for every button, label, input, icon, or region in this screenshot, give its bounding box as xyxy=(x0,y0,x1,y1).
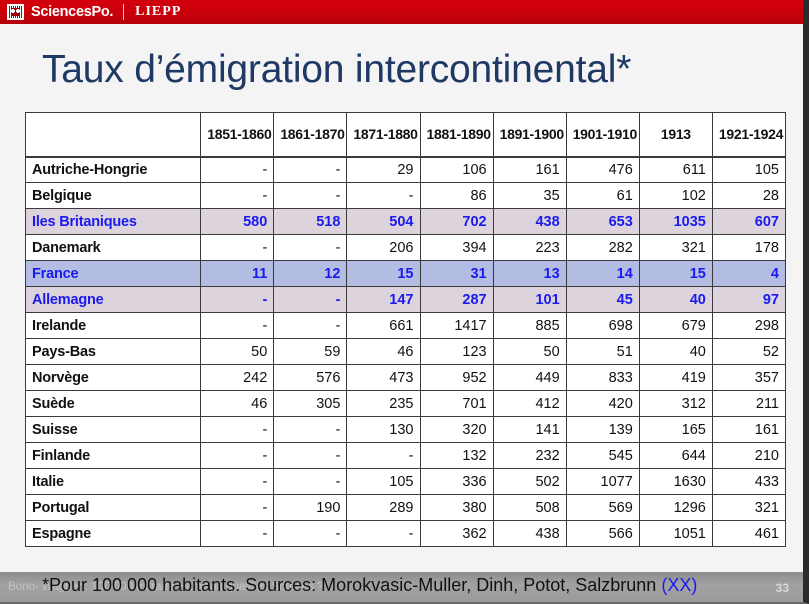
table-cell-value: 101 xyxy=(493,287,566,313)
table-row: Norvège242576473952449833419357 xyxy=(26,365,786,391)
banner-divider xyxy=(123,4,124,20)
table-cell-value: 885 xyxy=(493,313,566,339)
table-corner-cell xyxy=(26,113,201,157)
table-cell-value: 508 xyxy=(493,495,566,521)
table-cell-value: - xyxy=(201,417,274,443)
table-cell-value: 433 xyxy=(712,469,785,495)
table-cell-value: 40 xyxy=(639,287,712,313)
table-cell-value: 576 xyxy=(274,365,347,391)
table-column-header: 1891-1900 xyxy=(493,113,566,157)
table-cell-value: 394 xyxy=(420,235,493,261)
table-cell-value: 147 xyxy=(347,287,420,313)
table-cell-value: 86 xyxy=(420,183,493,209)
brand-label: SciencesPo. xyxy=(31,4,113,20)
table-cell-value: 235 xyxy=(347,391,420,417)
table-cell-value: 545 xyxy=(566,443,639,469)
table-cell-value: 357 xyxy=(712,365,785,391)
table-cell-value: 607 xyxy=(712,209,785,235)
table-cell-value: - xyxy=(274,287,347,313)
table-cell-value: 702 xyxy=(420,209,493,235)
table-cell-value: 518 xyxy=(274,209,347,235)
table-cell-country: Espagne xyxy=(26,521,201,547)
table-cell-value: - xyxy=(201,183,274,209)
table-cell-value: - xyxy=(201,313,274,339)
table-cell-value: 289 xyxy=(347,495,420,521)
table-cell-value: 320 xyxy=(420,417,493,443)
table-cell-value: - xyxy=(201,235,274,261)
table-cell-value: 29 xyxy=(347,157,420,183)
table-cell-value: - xyxy=(201,469,274,495)
table-cell-value: - xyxy=(274,521,347,547)
table-cell-value: 952 xyxy=(420,365,493,391)
table-cell-value: 206 xyxy=(347,235,420,261)
table-cell-value: 11 xyxy=(201,261,274,287)
table-row: Irelande--6611417885698679298 xyxy=(26,313,786,339)
table-cell-value: 1296 xyxy=(639,495,712,521)
table-column-header: 1881-1890 xyxy=(420,113,493,157)
table-cell-value: 321 xyxy=(639,235,712,261)
table-cell-country: Norvège xyxy=(26,365,201,391)
table-cell-value: 161 xyxy=(712,417,785,443)
table-cell-value: 580 xyxy=(201,209,274,235)
slide-footer: Bono- Wagner : 100 000 extrade Hamilton … xyxy=(0,572,803,604)
table-row: Danemark--206394223282321178 xyxy=(26,235,786,261)
table-cell-value: 105 xyxy=(347,469,420,495)
table-header: 1851-18601861-18701871-18801881-18901891… xyxy=(26,113,786,157)
data-table: 1851-18601861-18701871-18801881-18901891… xyxy=(25,112,786,547)
table-cell-value: 97 xyxy=(712,287,785,313)
table-row: Espagne---3624385661051461 xyxy=(26,521,786,547)
table-cell-value: 141 xyxy=(493,417,566,443)
table-cell-value: 420 xyxy=(566,391,639,417)
table-cell-value: - xyxy=(274,443,347,469)
table-body: Autriche-Hongrie--29106161476611105Belgi… xyxy=(26,157,786,547)
table-cell-value: - xyxy=(347,443,420,469)
table-row: Autriche-Hongrie--29106161476611105 xyxy=(26,157,786,183)
table-cell-value: 50 xyxy=(201,339,274,365)
table-cell-value: 210 xyxy=(712,443,785,469)
table-cell-country: Belgique xyxy=(26,183,201,209)
table-cell-value: - xyxy=(201,157,274,183)
table-cell-value: 380 xyxy=(420,495,493,521)
table-cell-value: 336 xyxy=(420,469,493,495)
table-cell-value: 566 xyxy=(566,521,639,547)
table-cell-value: - xyxy=(274,313,347,339)
table-column-header: 1861-1870 xyxy=(274,113,347,157)
table-cell-value: - xyxy=(347,183,420,209)
sciencespo-crest-icon xyxy=(7,4,24,20)
table-cell-value: 1051 xyxy=(639,521,712,547)
table-cell-country: Pays-Bas xyxy=(26,339,201,365)
table-cell-value: 569 xyxy=(566,495,639,521)
table-cell-country: Irelande xyxy=(26,313,201,339)
footer-note: *Pour 100 000 habitants. Sources: Morokv… xyxy=(42,575,697,596)
table-cell-country: Iles Britaniques xyxy=(26,209,201,235)
table-cell-value: 31 xyxy=(420,261,493,287)
table-cell-value: 438 xyxy=(493,521,566,547)
table-cell-value: 59 xyxy=(274,339,347,365)
table-cell-country: Italie xyxy=(26,469,201,495)
table-cell-value: 502 xyxy=(493,469,566,495)
table-cell-value: - xyxy=(274,235,347,261)
table-cell-value: 223 xyxy=(493,235,566,261)
table-cell-country: Suède xyxy=(26,391,201,417)
table-cell-value: 321 xyxy=(712,495,785,521)
table-cell-value: 1630 xyxy=(639,469,712,495)
table-cell-value: 51 xyxy=(566,339,639,365)
table-cell-country: Finlande xyxy=(26,443,201,469)
table-cell-value: 132 xyxy=(420,443,493,469)
table-cell-value: 35 xyxy=(493,183,566,209)
table-header-row: 1851-18601861-18701871-18801881-18901891… xyxy=(26,113,786,157)
table-cell-value: - xyxy=(274,469,347,495)
slide: SciencesPo. LIEPP Taux d’émigration inte… xyxy=(0,0,809,604)
table-column-header: 1901-1910 xyxy=(566,113,639,157)
table-cell-value: 46 xyxy=(201,391,274,417)
table-cell-value: 178 xyxy=(712,235,785,261)
sub-brand-label: LIEPP xyxy=(135,4,181,20)
table-cell-value: 611 xyxy=(639,157,712,183)
table-cell-value: 46 xyxy=(347,339,420,365)
table-cell-value: - xyxy=(347,521,420,547)
table-cell-value: 13 xyxy=(493,261,566,287)
table-cell-value: 1417 xyxy=(420,313,493,339)
table-cell-value: 438 xyxy=(493,209,566,235)
table-cell-value: 106 xyxy=(420,157,493,183)
table-row: Portugal-1902893805085691296321 xyxy=(26,495,786,521)
table-cell-value: 242 xyxy=(201,365,274,391)
table-cell-country: Autriche-Hongrie xyxy=(26,157,201,183)
table-cell-value: 305 xyxy=(274,391,347,417)
table-cell-value: 40 xyxy=(639,339,712,365)
table-cell-value: 653 xyxy=(566,209,639,235)
table-cell-value: 362 xyxy=(420,521,493,547)
table-cell-value: 412 xyxy=(493,391,566,417)
table-cell-value: 161 xyxy=(493,157,566,183)
table-cell-value: 139 xyxy=(566,417,639,443)
table-cell-value: 45 xyxy=(566,287,639,313)
table-cell-value: 211 xyxy=(712,391,785,417)
table-column-header: 1851-1860 xyxy=(201,113,274,157)
table-row: France111215311314154 xyxy=(26,261,786,287)
table-cell-value: 4 xyxy=(712,261,785,287)
table-cell-value: 165 xyxy=(639,417,712,443)
table-cell-value: - xyxy=(201,521,274,547)
table-cell-value: 282 xyxy=(566,235,639,261)
table-cell-value: 473 xyxy=(347,365,420,391)
table-cell-country: France xyxy=(26,261,201,287)
table-cell-value: 15 xyxy=(639,261,712,287)
table-cell-value: 102 xyxy=(639,183,712,209)
table-column-header: 1921-1924 xyxy=(712,113,785,157)
table-cell-value: 461 xyxy=(712,521,785,547)
table-cell-value: 123 xyxy=(420,339,493,365)
table-cell-country: Danemark xyxy=(26,235,201,261)
table-cell-value: 449 xyxy=(493,365,566,391)
table-cell-value: 298 xyxy=(712,313,785,339)
table-cell-value: - xyxy=(274,183,347,209)
table-cell-value: 833 xyxy=(566,365,639,391)
page-title: Taux d’émigration intercontinental* xyxy=(42,48,631,92)
table-cell-value: 312 xyxy=(639,391,712,417)
table-cell-value: 130 xyxy=(347,417,420,443)
table-cell-value: - xyxy=(201,495,274,521)
table-cell-value: 14 xyxy=(566,261,639,287)
table-cell-value: 1077 xyxy=(566,469,639,495)
table-cell-value: 190 xyxy=(274,495,347,521)
table-cell-value: - xyxy=(201,287,274,313)
table-cell-value: 105 xyxy=(712,157,785,183)
table-cell-value: 1035 xyxy=(639,209,712,235)
table-cell-value: 679 xyxy=(639,313,712,339)
table-cell-country: Portugal xyxy=(26,495,201,521)
table-cell-value: 698 xyxy=(566,313,639,339)
table-column-header: 1913 xyxy=(639,113,712,157)
table-cell-value: 476 xyxy=(566,157,639,183)
table-cell-value: - xyxy=(201,443,274,469)
table-row: Finlande---132232545644210 xyxy=(26,443,786,469)
table-row: Italie--10533650210771630433 xyxy=(26,469,786,495)
table-cell-value: - xyxy=(274,157,347,183)
table-cell-value: 504 xyxy=(347,209,420,235)
footer-note-text: *Pour 100 000 habitants. Sources: Morokv… xyxy=(42,575,661,595)
table-row: Iles Britaniques580518504702438653103560… xyxy=(26,209,786,235)
table-row: Suisse--130320141139165161 xyxy=(26,417,786,443)
table-row: Allemagne--147287101454097 xyxy=(26,287,786,313)
table-cell-value: 232 xyxy=(493,443,566,469)
table-cell-country: Suisse xyxy=(26,417,201,443)
table-cell-value: 28 xyxy=(712,183,785,209)
table-cell-value: 52 xyxy=(712,339,785,365)
table-cell-value: 61 xyxy=(566,183,639,209)
table-row: Pays-Bas50594612350514052 xyxy=(26,339,786,365)
table-cell-value: 287 xyxy=(420,287,493,313)
table-row: Belgique---86356110228 xyxy=(26,183,786,209)
table-cell-value: 12 xyxy=(274,261,347,287)
table-cell-value: - xyxy=(274,417,347,443)
table-cell-value: 15 xyxy=(347,261,420,287)
table-cell-value: 644 xyxy=(639,443,712,469)
table-cell-country: Allemagne xyxy=(26,287,201,313)
table-row: Suède46305235701412420312211 xyxy=(26,391,786,417)
table-cell-value: 419 xyxy=(639,365,712,391)
brand-banner: SciencesPo. LIEPP xyxy=(0,0,803,24)
table-column-header: 1871-1880 xyxy=(347,113,420,157)
table-cell-value: 50 xyxy=(493,339,566,365)
table-cell-value: 661 xyxy=(347,313,420,339)
footer-citation: (XX) xyxy=(661,575,697,595)
emigration-rate-table: 1851-18601861-18701871-18801881-18901891… xyxy=(25,112,786,547)
page-number: 33 xyxy=(776,581,789,595)
table-cell-value: 701 xyxy=(420,391,493,417)
